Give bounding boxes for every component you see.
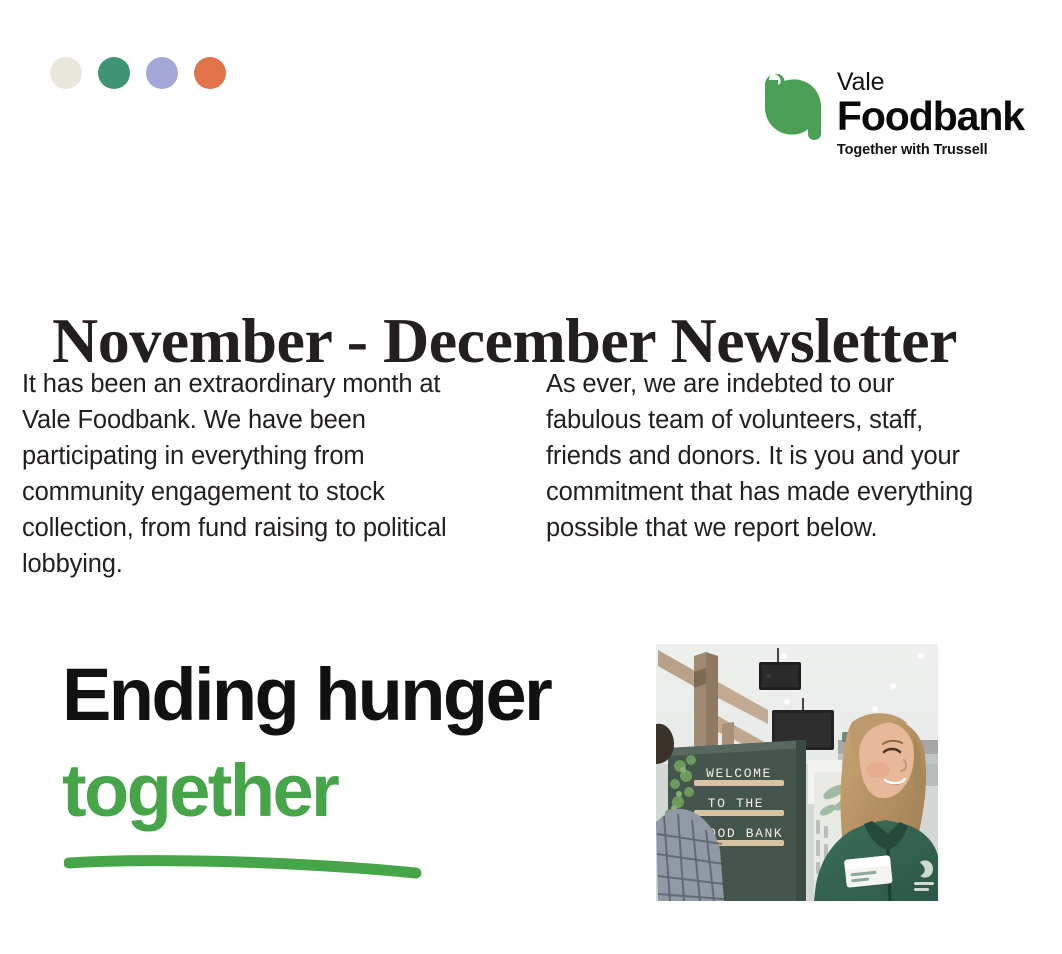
intro-paragraph-left: It has been an extraordinary month at Va… [22, 366, 454, 582]
swatch-green [98, 57, 130, 89]
slogan-line-together: together [62, 754, 550, 828]
logo-wordmark: Vale Foodbank Together with Trussell [837, 70, 1024, 157]
foodbank-welcome-photo: WELCOME TO THE FOOD BANK [656, 644, 938, 901]
campaign-banner: Ending hunger together [0, 636, 1062, 916]
logo-line-foodbank: Foodbank [837, 96, 1024, 138]
color-swatch-row [50, 57, 226, 89]
swatch-orange [194, 57, 226, 89]
vale-foodbank-logo[interactable]: Vale Foodbank Together with Trussell [765, 70, 1024, 157]
intro-paragraph-right: As ever, we are indebted to our fabulous… [546, 366, 978, 546]
svg-text:WELCOME: WELCOME [706, 766, 772, 781]
slogan-line-ending-hunger: Ending hunger [62, 658, 550, 732]
slogan-underline-swoosh-icon [64, 854, 424, 880]
intro-column-left: It has been an extraordinary month at Va… [22, 366, 454, 582]
intro-column-right: As ever, we are indebted to our fabulous… [546, 366, 978, 582]
swatch-cream [50, 57, 82, 89]
campaign-slogan: Ending hunger together [62, 658, 550, 828]
swatch-periwinkle [146, 57, 178, 89]
logo-tagline: Together with Trussell [837, 143, 988, 158]
page-title: November - December Newsletter [52, 306, 957, 375]
svg-text:TO THE: TO THE [708, 796, 764, 811]
vale-foodbank-mark-icon [765, 74, 825, 140]
intro-columns: It has been an extraordinary month at Va… [22, 366, 1022, 582]
logo-line-vale: Vale [837, 70, 884, 95]
